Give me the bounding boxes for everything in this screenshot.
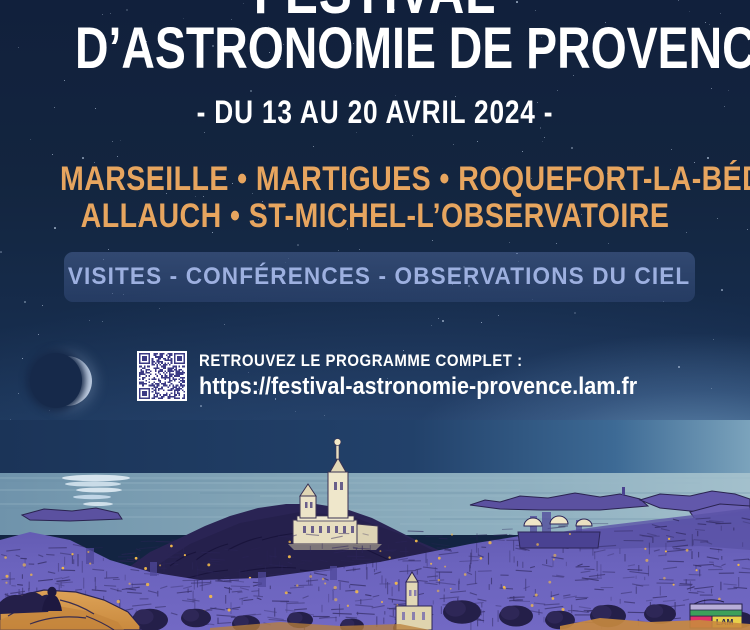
- marseille-panorama-illustration: LAM: [0, 420, 750, 630]
- programme-label: RETROUVEZ LE PROGRAMME COMPLET :: [199, 351, 627, 370]
- astronomy-festival-poster: FESTIVAL D’ASTRONOMIE DE PROVENCE - DU 1…: [0, 0, 750, 630]
- festival-dates: - DU 13 AU 20 AVRIL 2024 -: [68, 94, 683, 130]
- crescent-moon-icon: [42, 356, 96, 406]
- programme-url[interactable]: https://festival-astronomie-provence.lam…: [199, 373, 637, 400]
- cities-list: MARSEILLE • MARTIGUES • ROQUEFORT-LA-BÉD…: [0, 160, 750, 235]
- cities-line-1: MARSEILLE • MARTIGUES • ROQUEFORT-LA-BÉD…: [60, 160, 690, 198]
- poster-title-block: FESTIVAL D’ASTRONOMIE DE PROVENCE - DU 1…: [0, 0, 750, 130]
- title-astronomie-de-provence: D’ASTRONOMIE DE PROVENCE: [75, 18, 675, 80]
- activities-banner: VISITES - CONFÉRENCES - OBSERVATIONS DU …: [64, 252, 695, 302]
- cities-line-2: ALLAUCH • ST-MICHEL-L’OBSERVATOIRE: [60, 197, 690, 235]
- activities-banner-text: VISITES - CONFÉRENCES - OBSERVATIONS DU …: [68, 263, 690, 291]
- qr-code-icon[interactable]: [137, 351, 187, 401]
- programme-block: RETROUVEZ LE PROGRAMME COMPLET : https:/…: [137, 351, 686, 401]
